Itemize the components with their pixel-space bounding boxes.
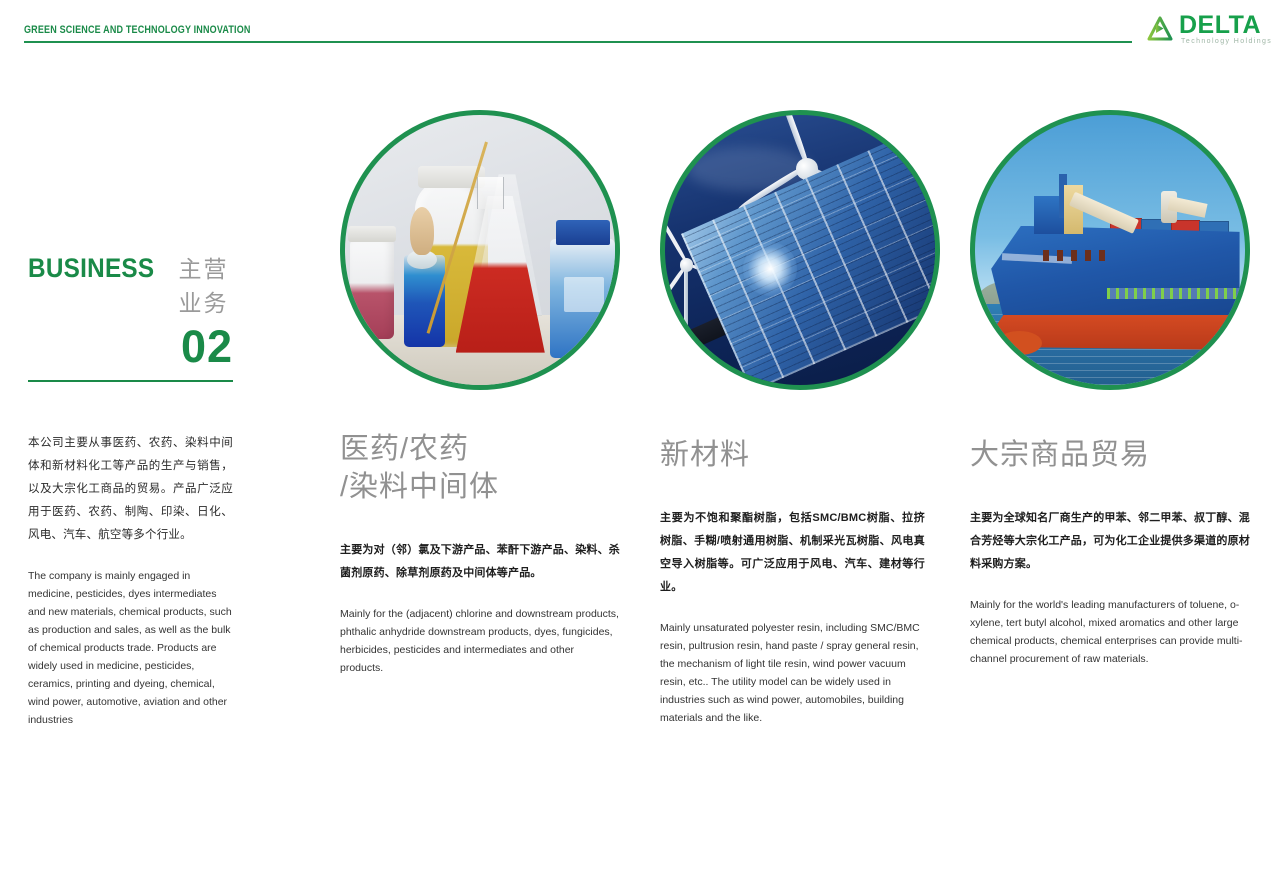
container-cargo-ship-photo xyxy=(970,110,1250,390)
page-header: GREEN SCIENCE AND TECHNOLOGY INNOVATION … xyxy=(0,0,1280,60)
section-title-block: BUSINESS 主营业务 02 xyxy=(28,250,233,382)
hull-port-row xyxy=(1043,250,1108,261)
renewable-energy-scene xyxy=(665,115,935,385)
reagent-bottle-label xyxy=(564,277,605,312)
header-divider xyxy=(24,41,1132,43)
sun-flare xyxy=(743,242,797,296)
section-number: 02 xyxy=(28,324,233,370)
intro-text-block: 本公司主要从事医药、农药、染料中间体和新材料化工等产品的生产与销售，以及大宗化工… xyxy=(28,432,233,729)
header-tagline: GREEN SCIENCE AND TECHNOLOGY INNOVATION xyxy=(24,24,251,36)
dropper-bulb xyxy=(410,207,434,256)
background-turbine-hub xyxy=(680,258,694,272)
triangle-logo-icon xyxy=(1146,16,1174,42)
business-column-commodity-trade: 大宗商品贸易 主要为全球知名厂商生产的甲苯、邻二甲苯、叔丁醇、混合芳烃等大宗化工… xyxy=(970,110,1250,668)
business-column-new-materials: 新材料 主要为不饱和聚酯树脂，包括SMC/BMC树脂、拉挤树脂、手糊/喷射通用树… xyxy=(660,110,925,727)
intro-paragraph-cn: 本公司主要从事医药、农药、染料中间体和新材料化工等产品的生产与销售，以及大宗化工… xyxy=(28,432,233,547)
column-body-cn: 主要为全球知名厂商生产的甲苯、邻二甲苯、叔丁醇、混合芳烃等大宗化工产品，可为化工… xyxy=(970,507,1250,576)
ship-hull xyxy=(991,226,1239,329)
intro-paragraph-en: The company is mainly engaged in medicin… xyxy=(28,567,233,729)
delta-logo: DELTA Technology Holdings xyxy=(1146,14,1264,48)
small-specimen-jar xyxy=(350,237,393,340)
logo-wordmark: DELTA xyxy=(1179,13,1261,38)
small-jar-cap xyxy=(348,226,397,242)
column-body-cn: 主要为对（邻）氯及下游产品、苯酐下游产品、染料、杀菌剂原药、除草剂原药及中间体等… xyxy=(340,539,620,585)
lab-scene xyxy=(345,115,615,385)
business-column-pharma: 医药/农药/染料中间体 主要为对（邻）氯及下游产品、苯酐下游产品、染料、杀菌剂原… xyxy=(340,110,620,677)
section-title-row: BUSINESS 主营业务 xyxy=(28,250,233,318)
column-body-cn: 主要为不饱和聚酯树脂，包括SMC/BMC树脂、拉挤树脂、手糊/喷射通用树脂、机制… xyxy=(660,507,925,599)
reagent-bottle-cap xyxy=(556,220,610,244)
section-title-en: BUSINESS xyxy=(28,253,154,284)
logo-tagline: Technology Holdings xyxy=(1181,38,1272,45)
section-divider xyxy=(28,380,233,382)
cargo-ship-scene xyxy=(975,115,1245,385)
section-title-cn: 主营业务 xyxy=(178,250,233,318)
deck-railing xyxy=(1107,288,1239,299)
column-heading: 新材料 xyxy=(660,436,925,474)
flask-neck xyxy=(477,177,503,209)
wind-turbine-solar-panel-photo xyxy=(660,110,940,390)
column-body-en: Mainly for the (adjacent) chlorine and d… xyxy=(340,605,620,677)
column-body-en: Mainly unsaturated polyester resin, incl… xyxy=(660,619,925,727)
column-body-en: Mainly for the world's leading manufactu… xyxy=(970,596,1250,668)
column-heading: 医药/农药/染料中间体 xyxy=(340,430,620,506)
column-heading: 大宗商品贸易 xyxy=(970,436,1250,474)
laboratory-glassware-photo xyxy=(340,110,620,390)
